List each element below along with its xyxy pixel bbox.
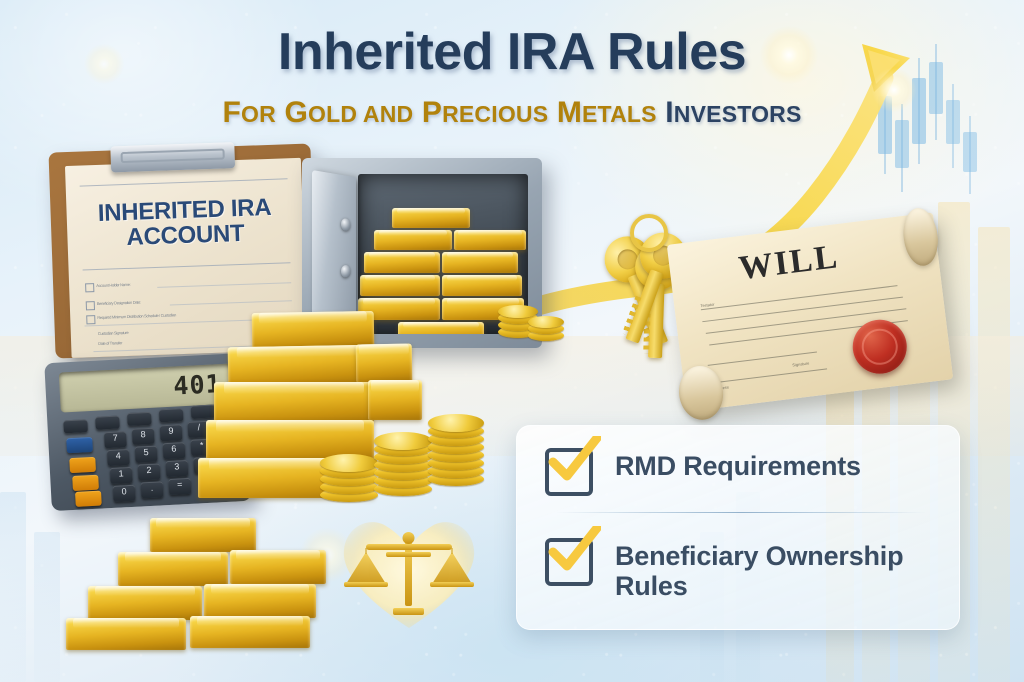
checkbox-checked-icon[interactable] [545,538,593,586]
clipboard-form-line: Custodian Signature [98,330,129,336]
calc-key-8[interactable]: 8 [132,428,155,445]
poster-canvas: Inherited IRA Rules FOR GOLD AND PRECIOU… [0,0,1024,682]
clipboard-form-line: Beneficiary Designation Date: [97,300,141,307]
calc-key-ce[interactable] [75,491,102,507]
checklist-item-label: RMD Requirements [615,448,861,481]
calc-key-5[interactable]: 5 [135,446,158,463]
will-field-label: Signature [792,360,810,367]
calc-key-mminus[interactable] [127,412,152,426]
key-ring [630,214,668,252]
page-title: Inherited IRA Rules [0,22,1024,82]
calc-key-4[interactable]: 4 [107,449,130,466]
scales-of-justice-icon [338,508,480,634]
calc-key-onc[interactable] [72,475,99,491]
calc-key-7[interactable]: 7 [104,431,127,448]
subtitle-part-navy: INVESTORS [665,96,801,129]
clipboard-form-line: Date of Transfer [98,340,122,346]
calc-key-0[interactable]: 0 [113,485,136,502]
calc-key-9[interactable]: 9 [160,424,183,441]
clipboard-form-line: Required Minimum Distribution Schedule /… [97,312,176,320]
clipboard-form-line: Account Holder Name: [96,282,130,288]
checkmark-icon [547,436,601,482]
calc-key-3[interactable]: 3 [166,460,189,477]
subtitle-part-gold: FOR GOLD AND PRECIOUS METALS [222,96,665,129]
calc-key-2[interactable]: 2 [138,463,161,480]
checklist-panel: RMD Requirements Beneficiary Ownership R… [516,425,960,630]
will-title: WILL [668,230,909,297]
checkmark-icon [547,526,601,572]
calc-key-1[interactable]: 1 [110,467,133,484]
calc-key-6[interactable]: 6 [163,442,186,459]
calc-key-gt[interactable] [66,437,93,453]
clipboard-heading-line2: ACCOUNT [126,220,245,251]
calc-key-mr[interactable] [95,415,120,429]
will-document: WILL Testator Signature Witness [667,212,953,411]
checklist-item[interactable]: RMD Requirements [545,448,937,496]
checklist-item[interactable]: Beneficiary Ownership Rules [545,538,937,601]
calc-key-mplus[interactable] [159,408,184,422]
calc-key-percent[interactable] [69,457,96,473]
calc-key-sign[interactable] [191,404,216,418]
clipboard-clamp-icon [110,142,235,172]
calc-key-equals[interactable]: = [168,478,191,495]
checklist-divider [555,512,927,513]
calc-key-mc[interactable] [63,419,88,433]
checklist-item-label: Beneficiary Ownership Rules [615,538,937,601]
checkbox-checked-icon[interactable] [545,448,593,496]
calc-key-dot[interactable]: . [141,481,164,498]
page-subtitle: FOR GOLD AND PRECIOUS METALS INVESTORS [0,96,1024,130]
clipboard-heading: INHERITED IRA ACCOUNT [66,194,304,253]
